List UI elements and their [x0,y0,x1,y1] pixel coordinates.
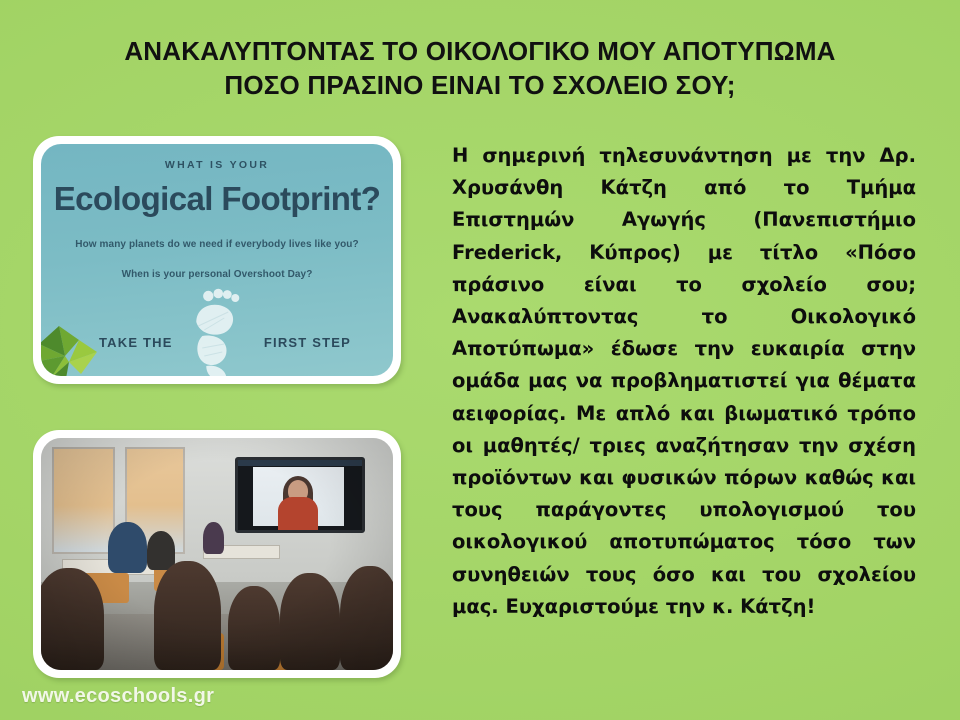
poster-question-1: How many planets do we need if everybody… [41,239,393,250]
ecological-footprint-poster-image: WHAT IS YOUR Ecological Footprint? How m… [33,136,401,384]
poster-kicker-text: WHAT IS YOUR [41,159,393,171]
classroom-inner [41,438,393,670]
poster-headline-text: Ecological Footprint? [41,180,393,218]
low-poly-leaf-decoration-icon [41,322,113,376]
title-line-1: ΑΝΑΚΑΛΥΠΤΟΝΤΑΣ ΤΟ ΟΙΚΟΛΟΓΙΚΟ ΜΟΥ ΑΠΟΤΥΠΩ… [40,34,920,68]
slide-canvas: ΑΝΑΚΑΛΥΠΤΟΝΤΑΣ ΤΟ ΟΙΚΟΛΟΓΙΚΟ ΜΟΥ ΑΠΟΤΥΠΩ… [0,0,960,720]
poster-question-2: When is your personal Overshoot Day? [41,269,393,280]
classroom-videoconference-photo [33,430,401,678]
poster-inner: WHAT IS YOUR Ecological Footprint? How m… [41,144,393,376]
footer-website-url: www.ecoschools.gr [22,685,214,708]
classroom-scene [41,438,393,670]
eco-poster: WHAT IS YOUR Ecological Footprint? How m… [41,144,393,376]
body-paragraph: Η σημερινή τηλεσυνάντηση με την Δρ. Χρυσ… [452,140,916,623]
photo-vignette [41,438,393,670]
page-title: ΑΝΑΚΑΛΥΠΤΟΝΤΑΣ ΤΟ ΟΙΚΟΛΟΓΙΚΟ ΜΟΥ ΑΠΟΤΥΠΩ… [40,34,920,102]
title-line-2: ΠΟΣΟ ΠΡΑΣΙΝΟ ΕΙΝΑΙ ΤΟ ΣΧΟΛΕΙΟ ΣΟΥ; [40,68,920,102]
leaf-footprint-icon [186,286,250,376]
poster-cta-right-text: FIRST STEP [264,335,351,350]
